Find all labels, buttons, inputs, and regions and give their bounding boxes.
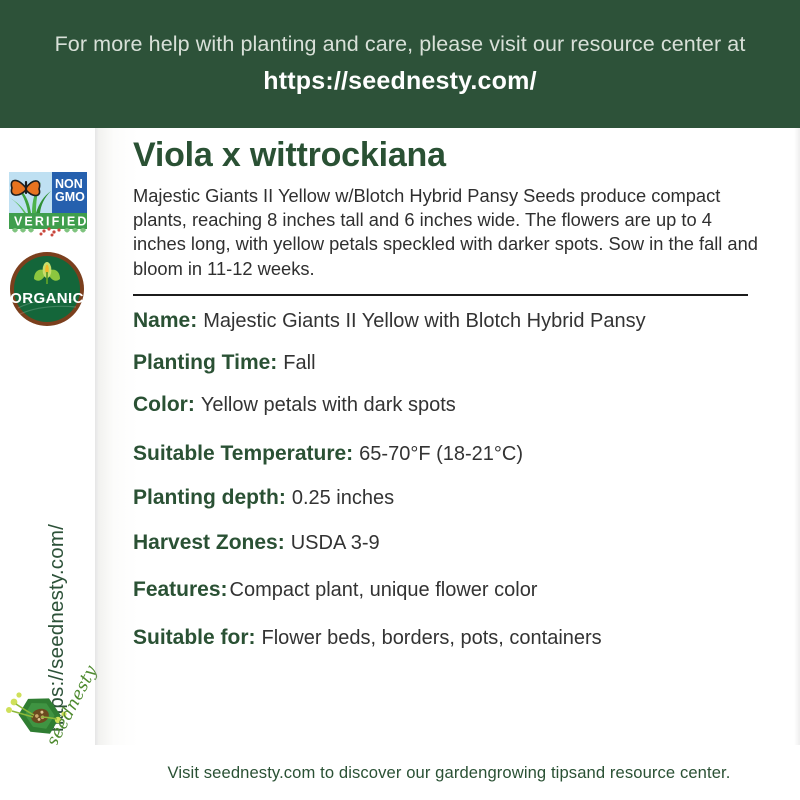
spec-label: Suitable for: [133,626,256,650]
left-badge-rail: NON GMO VERIFIED [0,128,98,800]
spec-row-features: Features: Compact plant, unique flower c… [133,578,773,602]
footer: Visit seednesty.com to discover our gard… [98,745,800,800]
spec-value: Majestic Giants II Yellow with Blotch Hy… [197,310,645,333]
spec-value: USDA 3-9 [285,532,380,555]
spec-label: Harvest Zones: [133,531,285,555]
spec-label: Suitable Temperature: [133,442,353,466]
spec-value: Yellow petals with dark spots [195,394,456,417]
spec-value: Fall [277,352,315,375]
svg-text:VERIFIED: VERIFIED [14,215,88,229]
spec-value: Flower beds, borders, pots, containers [256,627,602,650]
seed-packet-label: For more help with planting and care, pl… [0,0,800,800]
spec-value: Compact plant, unique flower color [228,579,538,602]
svg-text:GMO: GMO [55,190,85,204]
card-content: Viola x wittrockiana Majestic Giants II … [133,138,773,650]
product-description: Majestic Giants II Yellow w/Blotch Hybri… [133,184,769,281]
organic-seal-graphic: ORGANIC [8,250,86,328]
non-gmo-verified-badge: NON GMO VERIFIED [6,168,90,240]
card-right-shadow [794,128,800,745]
seednesty-brand-logo: seednesty [6,658,92,754]
spec-row-planting-time: Planting Time: Fall [133,351,773,375]
spec-label: Planting depth: [133,486,286,510]
non-gmo-badge-graphic: NON GMO VERIFIED [6,168,90,240]
banner-website-url[interactable]: https://seednesty.com/ [263,67,536,96]
spec-value: 0.25 inches [286,487,394,510]
footer-text: Visit seednesty.com to discover our gard… [168,763,731,783]
spec-label: Planting Time: [133,351,277,375]
page-title: Viola x wittrockiana [133,138,773,174]
spec-list: Name: Majestic Giants II Yellow with Blo… [133,309,773,650]
spec-label: Name: [133,309,197,333]
spec-row-name: Name: Majestic Giants II Yellow with Blo… [133,309,773,333]
spec-row-color: Color: Yellow petals with dark spots [133,393,773,417]
spec-label: Color: [133,393,195,417]
spec-value: 65-70°F (18-21°C) [353,443,523,466]
organic-certified-seal: ORGANIC ORGANIC [8,250,86,328]
spec-row-planting-depth: Planting depth: 0.25 inches [133,486,773,510]
banner-help-text: For more help with planting and care, pl… [55,32,746,57]
footer-left-strip [0,745,98,800]
spec-row-suitable-for: Suitable for: Flower beds, borders, pots… [133,626,773,650]
spec-label: Features: [133,578,228,602]
spec-row-harvest-zones: Harvest Zones: USDA 3-9 [133,531,773,555]
spec-row-suitable-temperature: Suitable Temperature: 65-70°F (18-21°C) [133,442,773,466]
divider [133,294,748,296]
svg-text:NON: NON [55,177,83,191]
resource-center-banner: For more help with planting and care, pl… [0,0,800,128]
svg-text:ORGANIC: ORGANIC [10,290,84,307]
